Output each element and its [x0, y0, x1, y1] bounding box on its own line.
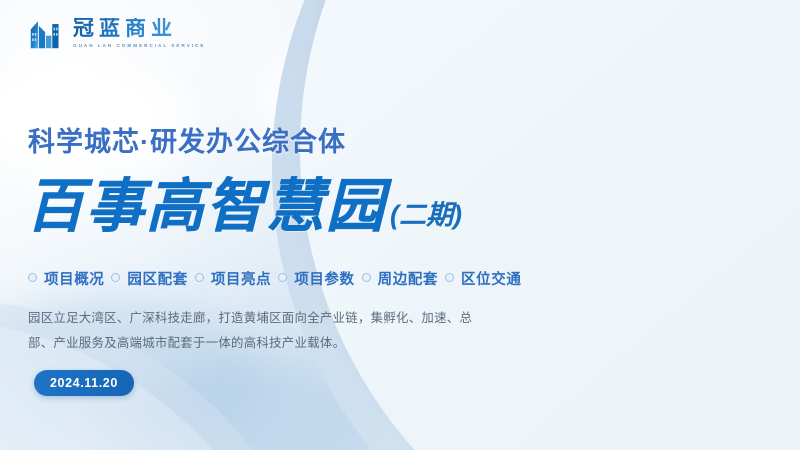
bullet-icon — [195, 273, 204, 282]
page-title: 百事高智慧园 (二期) — [26, 178, 462, 236]
bullet-icon — [362, 273, 371, 282]
nav-item-surrounding-facilities[interactable]: 周边配套 — [378, 268, 438, 289]
building-skyline-icon — [28, 16, 64, 50]
brand-logo-text: 冠蓝商业 GUAN LAN COMMERCIAL SERVICE — [73, 18, 205, 48]
section-nav: 项目概况 园区配套 项目亮点 项目参数 周边配套 区位交通 — [28, 268, 521, 289]
nav-item-project-parameters[interactable]: 项目参数 — [294, 268, 354, 289]
bullet-icon — [278, 273, 287, 282]
nav-item-project-overview[interactable]: 项目概况 — [44, 268, 104, 289]
hero-subtitle: 科学城芯·研发办公综合体 — [28, 120, 346, 159]
slide-root: 冠蓝商业 GUAN LAN COMMERCIAL SERVICE 科学城芯·研发… — [0, 0, 800, 450]
hero-description: 园区立足大湾区、广深科技走廊，打造黄埔区面向全产业链，集孵化、加速、总部、产业服… — [28, 306, 488, 356]
hero-title: 百事高智慧园 — [26, 178, 386, 236]
brand-name-en: GUAN LAN COMMERCIAL SERVICE — [73, 43, 205, 48]
brand-name-cn: 冠蓝商业 — [73, 18, 205, 40]
bullet-icon — [28, 273, 37, 282]
bullet-icon — [445, 273, 454, 282]
nav-item-project-highlights[interactable]: 项目亮点 — [211, 268, 271, 289]
nav-item-location-transport[interactable]: 区位交通 — [461, 268, 521, 289]
hero-title-phase: (二期) — [390, 193, 462, 236]
date-badge: 2024.11.20 — [34, 370, 134, 396]
bullet-icon — [111, 273, 120, 282]
brand-logo[interactable]: 冠蓝商业 GUAN LAN COMMERCIAL SERVICE — [28, 16, 205, 50]
nav-item-park-facilities[interactable]: 园区配套 — [127, 268, 187, 289]
